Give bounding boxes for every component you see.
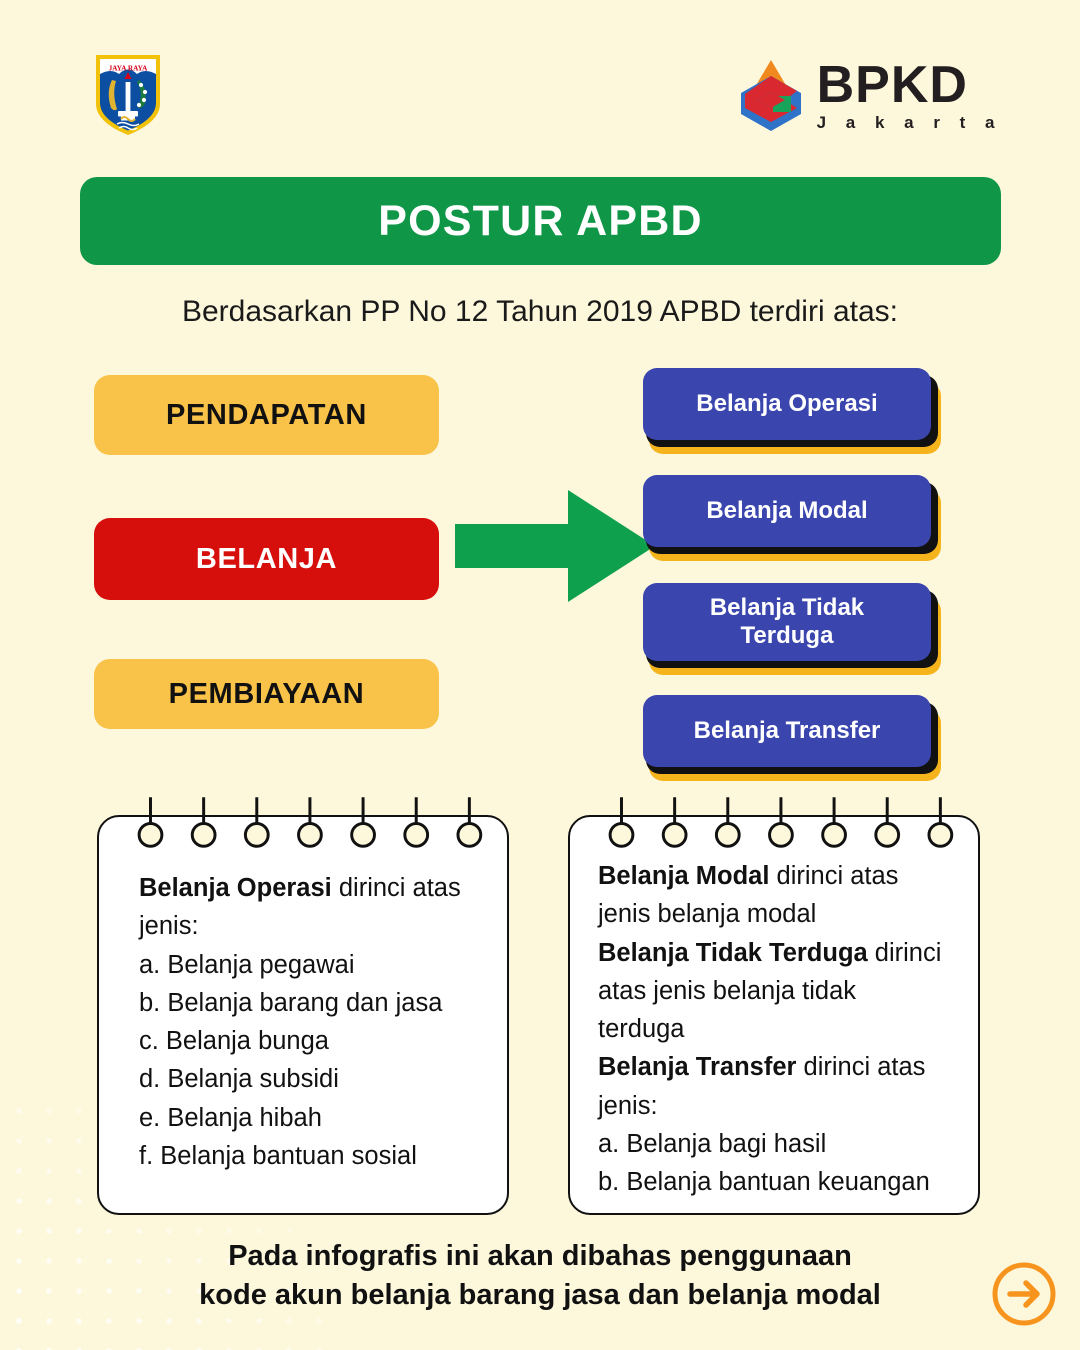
category-belanja-label: BELANJA	[196, 543, 337, 576]
bpkd-logo-name: BPKD	[817, 59, 1002, 111]
subcategory-belanja-transfer-label: Belanja Transfer	[643, 695, 931, 767]
svg-text:JAYA RAYA: JAYA RAYA	[109, 65, 148, 73]
footer-note: Pada infografis ini akan dibahas penggun…	[0, 1237, 1080, 1314]
page-title: POSTUR APBD	[378, 197, 703, 246]
page-title-banner: POSTUR APBD	[80, 177, 1001, 265]
bpkd-logo-subtitle: J a k a r t a	[817, 114, 1002, 131]
bpkd-logo: BPKD J a k a r t a	[735, 55, 1002, 135]
next-arrow-button[interactable]	[990, 1260, 1058, 1328]
subcategory-belanja-operasi[interactable]: Belanja Operasi	[643, 368, 935, 440]
subcategory-belanja-tidak-terduga-label: Belanja Tidak Terduga	[643, 583, 931, 661]
subcategory-belanja-transfer[interactable]: Belanja Transfer	[643, 695, 935, 767]
note-card-right-text: Belanja Modal dirinci atasjenis belanja …	[570, 857, 978, 1201]
subcategory-belanja-tidak-terduga[interactable]: Belanja Tidak Terduga	[643, 583, 935, 661]
green-right-arrow-icon	[455, 486, 655, 606]
header: JAYA RAYA BPKD J a k a r t a	[0, 0, 1080, 172]
bpkd-mark-icon	[735, 56, 807, 134]
note-card-belanja-modal-transfer: Belanja Modal dirinci atasjenis belanja …	[568, 815, 980, 1215]
note-card-belanja-operasi: Belanja Operasi dirinci atasjenis:a. Bel…	[97, 815, 509, 1215]
subcategory-belanja-operasi-label: Belanja Operasi	[643, 368, 931, 440]
subcategory-belanja-modal-label: Belanja Modal	[643, 475, 931, 547]
spiral-rings-icon	[570, 795, 978, 853]
category-pendapatan[interactable]: PENDAPATAN	[94, 375, 439, 455]
page-subtitle: Berdasarkan PP No 12 Tahun 2019 APBD ter…	[0, 295, 1080, 329]
jakarta-coat-of-arms-icon: JAYA RAYA	[93, 52, 163, 138]
category-pembiayaan-label: PEMBIAYAAN	[169, 678, 365, 711]
category-belanja[interactable]: BELANJA	[94, 518, 439, 600]
subcategory-belanja-modal[interactable]: Belanja Modal	[643, 475, 935, 547]
footer-line-1: Pada infografis ini akan dibahas penggun…	[0, 1237, 1080, 1276]
category-pendapatan-label: PENDAPATAN	[166, 399, 367, 432]
footer-line-2: kode akun belanja barang jasa dan belanj…	[0, 1276, 1080, 1315]
note-card-left-text: Belanja Operasi dirinci atasjenis:a. Bel…	[99, 869, 507, 1175]
category-pembiayaan[interactable]: PEMBIAYAAN	[94, 659, 439, 729]
spiral-rings-icon	[99, 795, 507, 853]
